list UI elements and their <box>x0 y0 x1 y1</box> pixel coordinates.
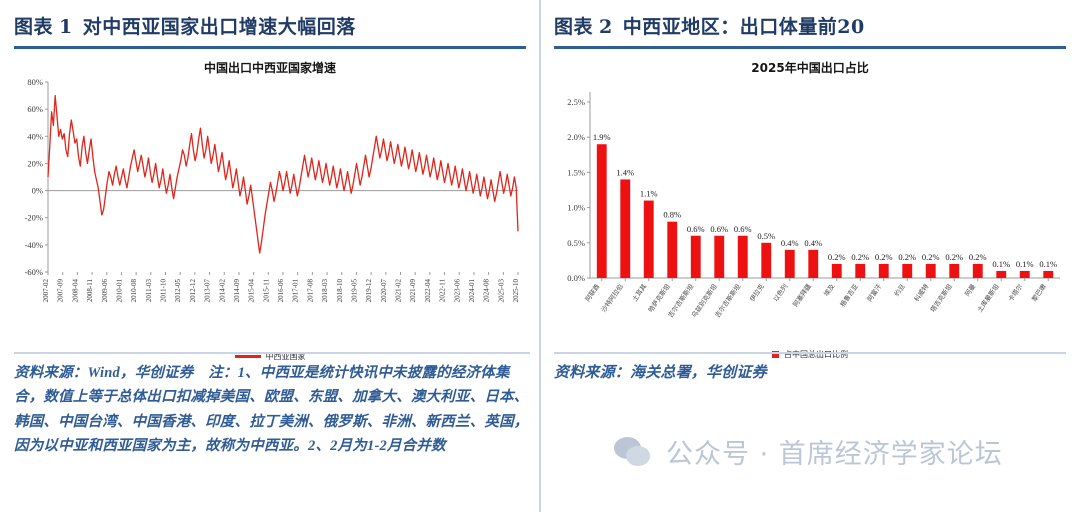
x-axis-tick-label: 2020-07 <box>380 279 388 303</box>
x-axis-category-label: 土耳其 <box>630 282 649 304</box>
x-axis-tick-label: 2015-11 <box>262 279 270 303</box>
bar <box>902 264 912 278</box>
x-axis-category-label: 埃及 <box>822 282 837 298</box>
x-axis-tick-label: 2022-11 <box>439 279 447 303</box>
x-axis-tick-label: 2018-10 <box>336 279 344 303</box>
bar <box>926 264 936 278</box>
bar-chart-plot: 0.0%0.5%1.0%1.5%2.0%2.5%1.9%阿联酋1.4%沙特阿拉伯… <box>554 76 1066 344</box>
x-axis-category-label: 约旦 <box>892 282 907 298</box>
bar-value-label: 0.2% <box>828 252 846 262</box>
line-chart-svg: 80%60%40%20%0%-20%-40%-60%2007-022007-09… <box>14 76 526 344</box>
bar-value-label: 0.4% <box>804 238 822 248</box>
bar-value-label: 0.1% <box>1039 259 1057 269</box>
bar <box>691 236 701 278</box>
y-axis-tick-label: -20% <box>25 213 43 223</box>
bar-value-label: 1.9% <box>593 132 611 142</box>
bar-value-label: 1.4% <box>616 167 634 177</box>
left-figure-panel: 图表1对中西亚国家出口增速大幅回落 中国出口中西亚国家增速 80%60%40%2… <box>0 0 540 512</box>
x-axis-tick-label: 2025-10 <box>512 279 520 303</box>
bar-value-label: 0.4% <box>781 238 799 248</box>
x-axis-category-label: 以色列 <box>771 282 790 303</box>
bar <box>1020 271 1030 278</box>
right-caption-prefix: 图表 <box>554 16 593 38</box>
bar <box>808 250 818 278</box>
left-caption-number: 1 <box>59 16 73 38</box>
left-caption-text: 图表1对中西亚国家出口增速大幅回落 <box>14 12 526 39</box>
y-axis-tick-label: 2.0% <box>567 132 585 142</box>
x-axis-tick-label: 2024-08 <box>483 279 491 303</box>
line-chart-plot: 80%60%40%20%0%-20%-40%-60%2007-022007-09… <box>14 76 526 344</box>
bar-value-label: 0.1% <box>992 259 1010 269</box>
x-axis-tick-label: 2012-12 <box>189 279 197 303</box>
x-axis-category-label: 塔吉克斯坦 <box>928 282 954 314</box>
line-chart: 中国出口中西亚国家增速 80%60%40%20%0%-20%-40%-60%20… <box>14 59 526 359</box>
x-axis-tick-label: 2008-11 <box>86 279 94 303</box>
x-axis-tick-label: 2019-05 <box>350 279 358 303</box>
bar <box>644 201 654 278</box>
x-axis-tick-label: 2010-01 <box>115 279 123 303</box>
x-axis-tick-label: 2016-06 <box>277 279 285 303</box>
bar-value-label: 0.1% <box>1016 259 1034 269</box>
left-figure-caption: 图表1对中西亚国家出口增速大幅回落 <box>14 0 526 49</box>
line-chart-title: 中国出口中西亚国家增速 <box>14 59 526 76</box>
y-axis-tick-label: -40% <box>25 240 43 250</box>
x-axis-tick-label: 2022-04 <box>424 279 432 303</box>
left-caption-rule <box>14 46 526 49</box>
y-axis-tick-label: 60% <box>27 104 43 114</box>
bar-value-label: 0.5% <box>757 231 775 241</box>
x-axis-tick-label: 2015-04 <box>248 279 256 303</box>
bar-value-label: 0.6% <box>687 224 705 234</box>
y-axis-tick-label: 0.0% <box>567 273 585 283</box>
x-axis-tick-label: 2012-05 <box>174 279 182 303</box>
bar-chart-svg: 0.0%0.5%1.0%1.5%2.0%2.5%1.9%阿联酋1.4%沙特阿拉伯… <box>554 76 1066 344</box>
x-axis-tick-label: 2013-07 <box>204 279 212 303</box>
x-axis-tick-label: 2008-04 <box>71 279 79 303</box>
bar <box>738 236 748 278</box>
x-axis-category-label: 阿曼 <box>963 282 978 298</box>
x-axis-category-label: 阿富汗 <box>865 282 884 304</box>
bar <box>620 179 630 278</box>
x-axis-category-label: 科威特 <box>912 282 931 304</box>
bar <box>855 264 865 278</box>
x-axis-category-label: 黎巴嫩 <box>1029 282 1048 304</box>
x-axis-category-label: 阿联酋 <box>583 282 602 304</box>
bar <box>597 144 607 278</box>
y-axis-tick-label: 0.5% <box>567 238 585 248</box>
bar-chart-title: 2025年中国出口占比 <box>554 59 1066 76</box>
right-source-rule <box>554 352 1066 354</box>
bar <box>996 271 1006 278</box>
bar <box>973 264 983 278</box>
x-axis-tick-label: 2017-08 <box>306 279 314 303</box>
right-source-note: 资料来源：海关总署，华创证券 <box>554 361 1066 386</box>
y-axis-tick-label: 2.5% <box>567 97 585 107</box>
y-axis-tick-label: -60% <box>25 267 43 277</box>
bar-value-label: 0.2% <box>898 252 916 262</box>
x-axis-tick-label: 2009-06 <box>101 279 109 303</box>
x-axis-tick-label: 2014-09 <box>233 279 241 303</box>
bar-value-label: 0.2% <box>875 252 893 262</box>
y-axis-tick-label: 0% <box>32 186 43 196</box>
watermark-text: 公众号 · 首席经济学家论坛 <box>666 432 1003 471</box>
x-axis-tick-label: 2017-01 <box>292 279 300 303</box>
right-caption-rule <box>554 46 1066 49</box>
y-axis-tick-label: 80% <box>27 77 43 87</box>
x-axis-tick-label: 2007-09 <box>57 279 65 303</box>
left-caption-prefix: 图表 <box>14 16 53 38</box>
x-axis-category-label: 阿塞拜疆 <box>791 282 814 309</box>
x-axis-tick-label: 2007-02 <box>42 279 50 303</box>
x-axis-tick-label: 2021-09 <box>409 279 417 303</box>
bar-value-label: 0.6% <box>734 224 752 234</box>
bar <box>714 236 724 278</box>
right-figure-caption: 图表2中西亚地区：出口体量前20 <box>554 0 1066 49</box>
bar-value-label: 0.2% <box>922 252 940 262</box>
bar-value-label: 0.2% <box>969 252 987 262</box>
left-source-rule <box>14 352 530 354</box>
x-axis-tick-label: 2025-03 <box>497 279 505 303</box>
bar-value-label: 0.2% <box>851 252 869 262</box>
bar-value-label: 0.6% <box>710 224 728 234</box>
x-axis-category-label: 沙特阿拉伯 <box>599 282 625 314</box>
x-axis-tick-label: 2019-12 <box>365 279 373 303</box>
bar <box>667 222 677 278</box>
right-caption-title: 中西亚地区：出口体量前20 <box>623 16 865 38</box>
y-axis-tick-label: 1.0% <box>567 203 585 213</box>
x-axis-tick-label: 2023-06 <box>453 279 461 303</box>
watermark: 公众号 · 首席经济学家论坛 <box>612 432 1003 471</box>
bar <box>949 264 959 278</box>
bar <box>761 243 771 278</box>
bar <box>1043 271 1053 278</box>
x-axis-tick-label: 2011-10 <box>160 279 168 303</box>
right-caption-number: 2 <box>599 16 613 38</box>
x-axis-category-label: 格鲁吉亚 <box>838 282 861 309</box>
figure-page: 图表1对中西亚国家出口增速大幅回落 中国出口中西亚国家增速 80%60%40%2… <box>0 0 1080 512</box>
x-axis-category-label: 伊拉克 <box>747 282 766 304</box>
left-caption-title: 对中西亚国家出口增速大幅回落 <box>83 16 356 38</box>
x-axis-tick-label: 2014-02 <box>218 279 226 303</box>
y-axis-tick-label: 20% <box>27 158 43 168</box>
x-axis-tick-label: 2018-03 <box>321 279 329 303</box>
bar <box>832 264 842 278</box>
x-axis-category-label: 卡塔尔 <box>1006 282 1025 304</box>
bar <box>879 264 889 278</box>
x-axis-category-label: 土库曼斯坦 <box>975 282 1001 314</box>
x-axis-tick-label: 2011-03 <box>145 279 153 303</box>
left-source-note: 资料来源：Wind，华创证券 注：1、中西亚是统计快讯中未披露的经济体集合，数值… <box>14 361 530 458</box>
x-axis-tick-label: 2010-08 <box>130 279 138 303</box>
y-axis-tick-label: 40% <box>27 131 43 141</box>
wechat-icon <box>612 437 654 467</box>
bar-chart: 2025年中国出口占比 0.0%0.5%1.0%1.5%2.0%2.5%1.9%… <box>554 59 1066 359</box>
x-axis-category-label: 哈萨克斯坦 <box>646 282 672 314</box>
x-axis-tick-label: 2021-02 <box>395 279 403 303</box>
line-series-path <box>48 96 518 253</box>
y-axis-tick-label: 1.5% <box>567 167 585 177</box>
bar-value-label: 1.1% <box>640 189 658 199</box>
bar <box>785 250 795 278</box>
x-axis-tick-label: 2024-01 <box>468 279 476 303</box>
bar-value-label: 0.8% <box>663 210 681 220</box>
bar-value-label: 0.2% <box>945 252 963 262</box>
right-caption-text: 图表2中西亚地区：出口体量前20 <box>554 12 1066 39</box>
